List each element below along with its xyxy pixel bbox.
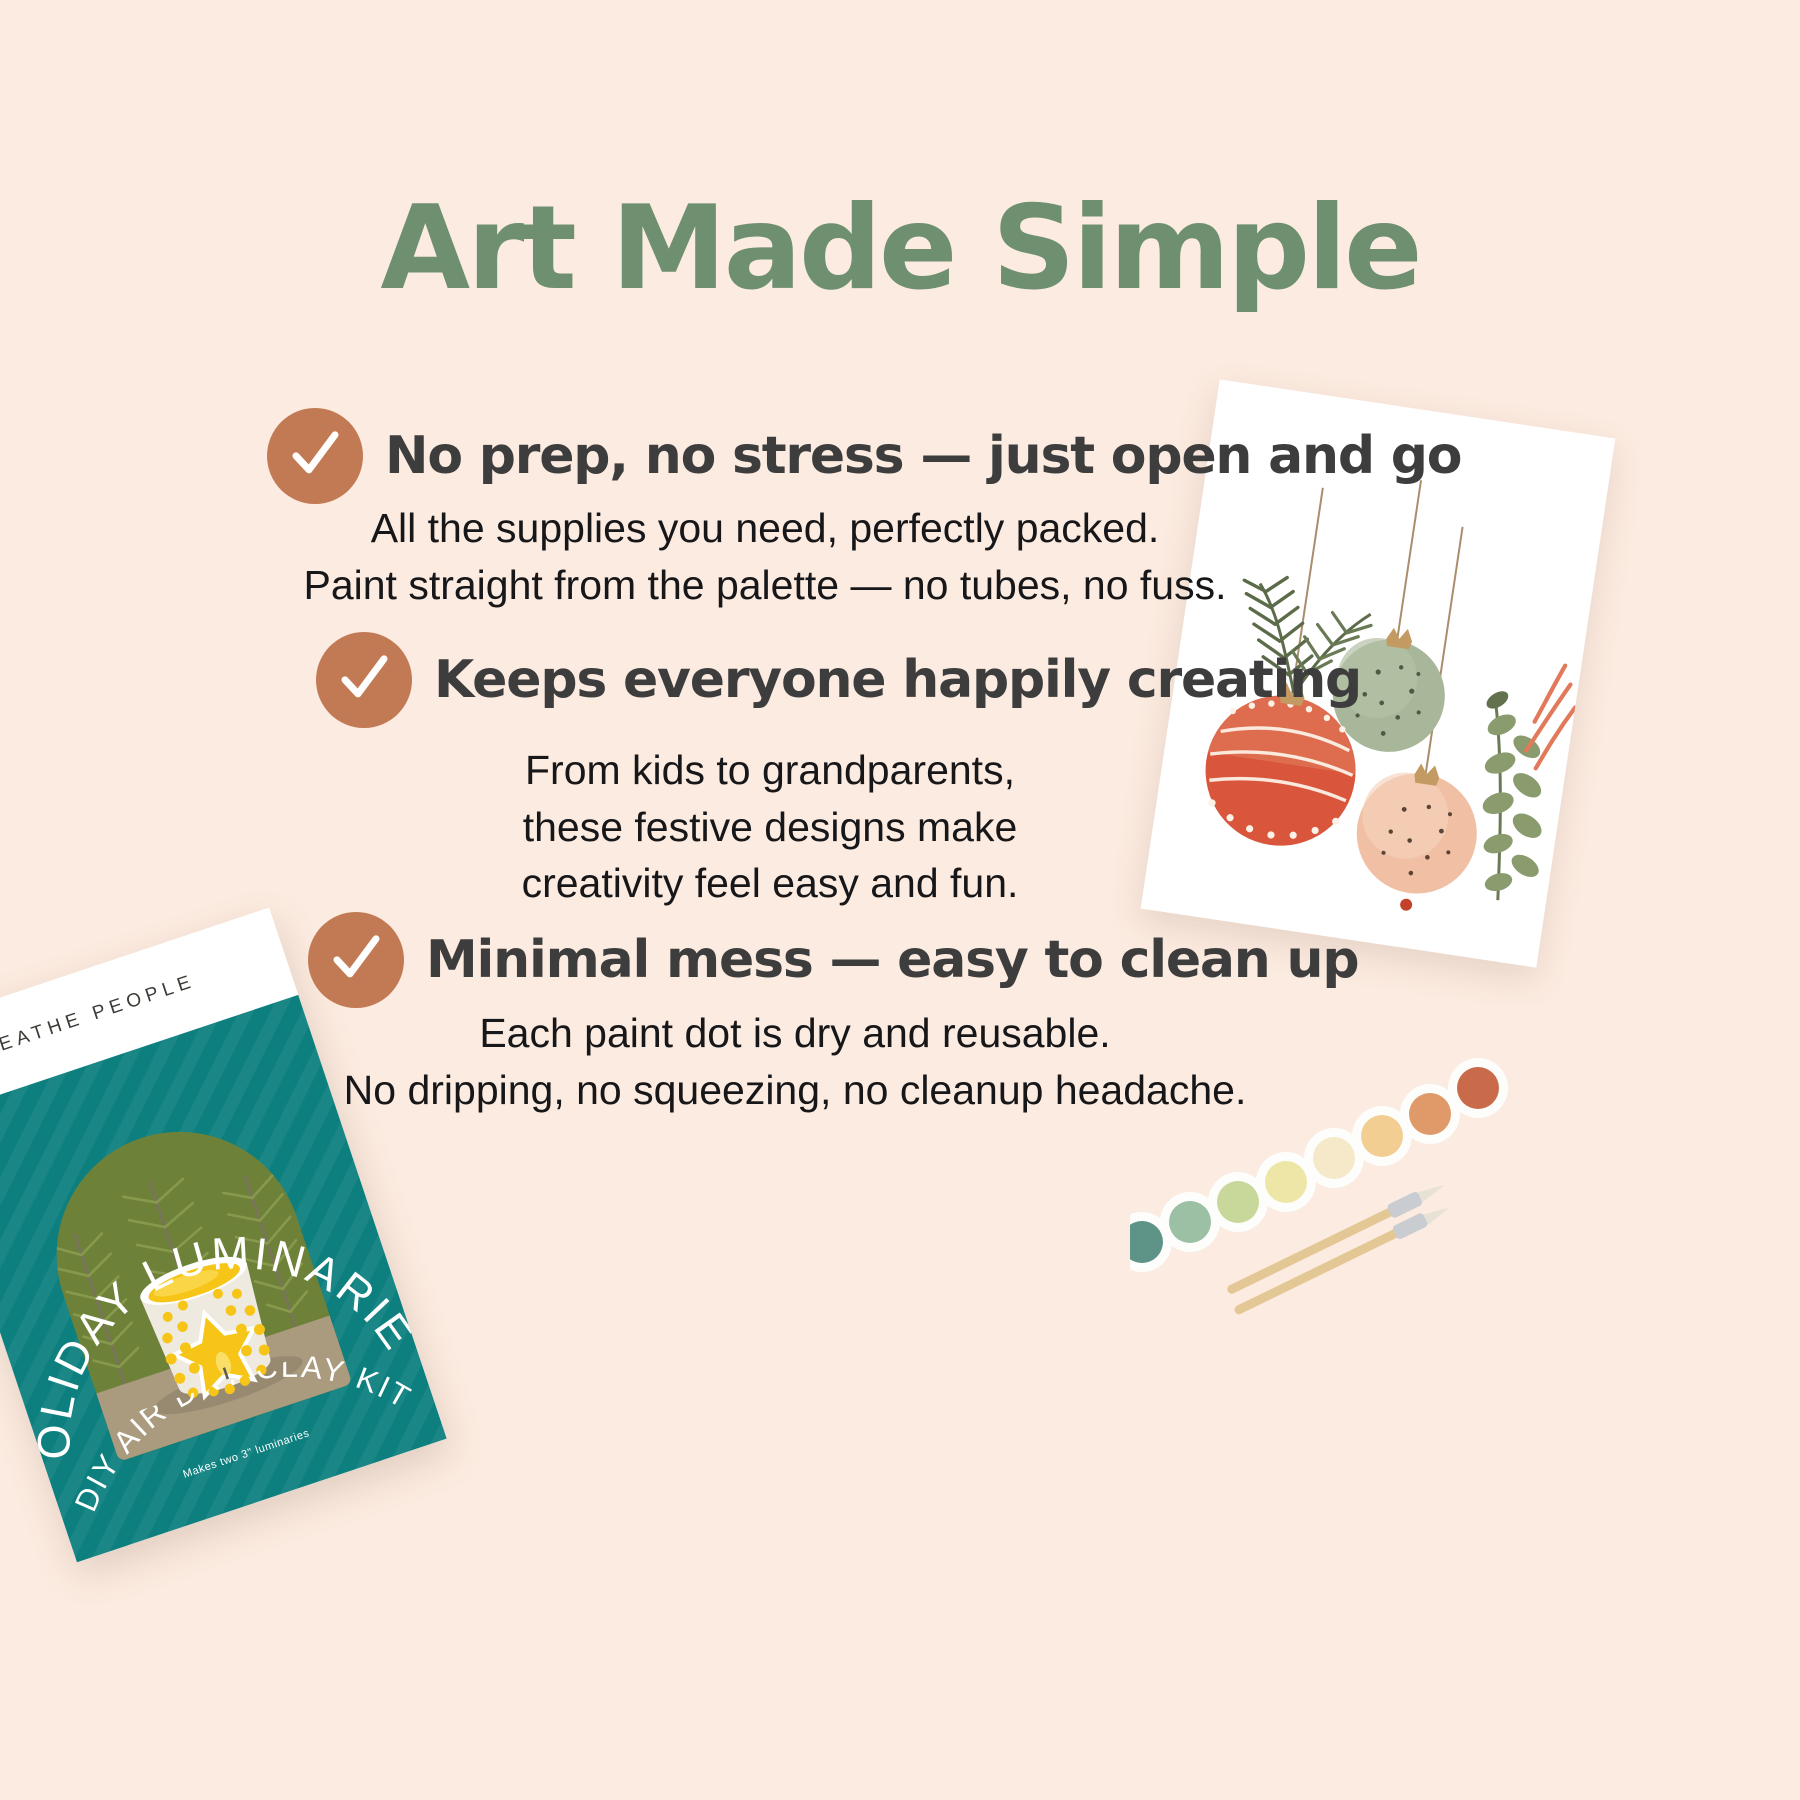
checkmark-icon <box>327 930 385 988</box>
makes-note-text: Makes two 3" luminaries <box>182 1427 312 1480</box>
paint-brush-2 <box>1232 1201 1452 1319</box>
bullet-1-body: All the supplies you need, perfectly pac… <box>300 500 1230 613</box>
checkmark-icon <box>286 426 344 484</box>
bullet-1-heading: No prep, no stress — just open and go <box>385 426 1461 486</box>
bullet-2-body: From kids to grandparents, these festive… <box>430 742 1110 912</box>
bullet-1-heading-row: No prep, no stress — just open and go <box>267 408 1461 504</box>
check-circle-icon <box>316 632 412 728</box>
olive-branch <box>1455 685 1568 906</box>
bullet-2-heading-row: Keeps everyone happily creating <box>316 632 1361 728</box>
check-circle-icon <box>267 408 363 504</box>
ornament-peach <box>1346 755 1487 919</box>
bullet-2-heading: Keeps everyone happily creating <box>434 650 1361 710</box>
page-title: Art Made Simple <box>0 188 1800 310</box>
checkmark-icon <box>335 650 393 708</box>
bullet-3-heading: Minimal mess — easy to clean up <box>426 930 1358 990</box>
bullet-3-heading-row: Minimal mess — easy to clean up <box>308 912 1358 1008</box>
bullet-3-body: Each paint dot is dry and reusable. No d… <box>300 1005 1290 1118</box>
check-circle-icon <box>308 912 404 1008</box>
